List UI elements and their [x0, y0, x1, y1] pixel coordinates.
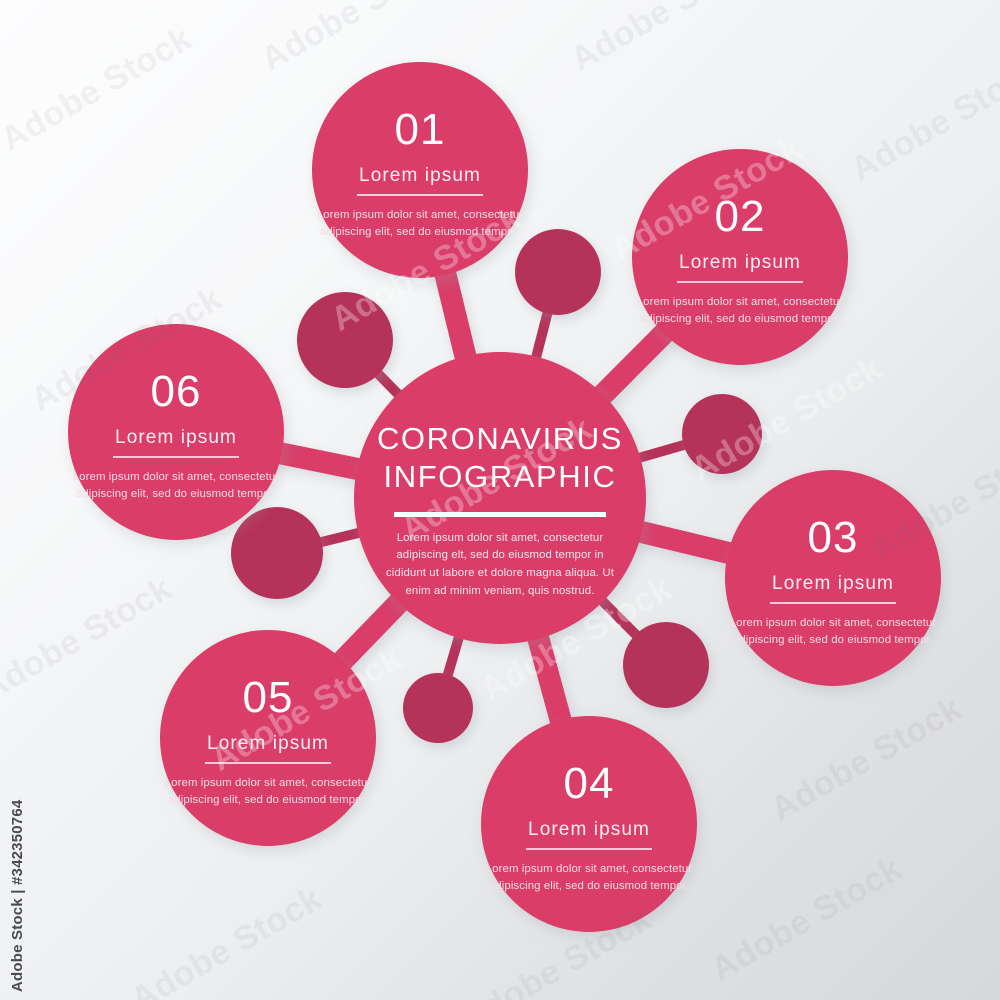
spike-knob-bottom: [403, 673, 473, 743]
node-circle-04: [481, 716, 697, 932]
infographic-canvas: CORONAVIRUS INFOGRAPHIC Lorem ipsum dolo…: [0, 0, 1000, 1000]
node-circle-05: [160, 630, 376, 846]
node-circle-06: [68, 324, 284, 540]
node-circle-03: [725, 470, 941, 686]
spike-knob-lower-right: [623, 622, 709, 708]
center-hub-circle: [354, 352, 646, 644]
stock-credit-label: Adobe Stock | #342350764: [9, 672, 26, 992]
spike-knob-right: [682, 394, 762, 474]
spike-knob-top: [515, 229, 601, 315]
spike-knob-upper-left: [297, 292, 393, 388]
node-circle-02: [632, 149, 848, 365]
node-circle-01: [312, 62, 528, 278]
virus-diagram: [0, 0, 1000, 1000]
spike-knob-left: [231, 507, 323, 599]
